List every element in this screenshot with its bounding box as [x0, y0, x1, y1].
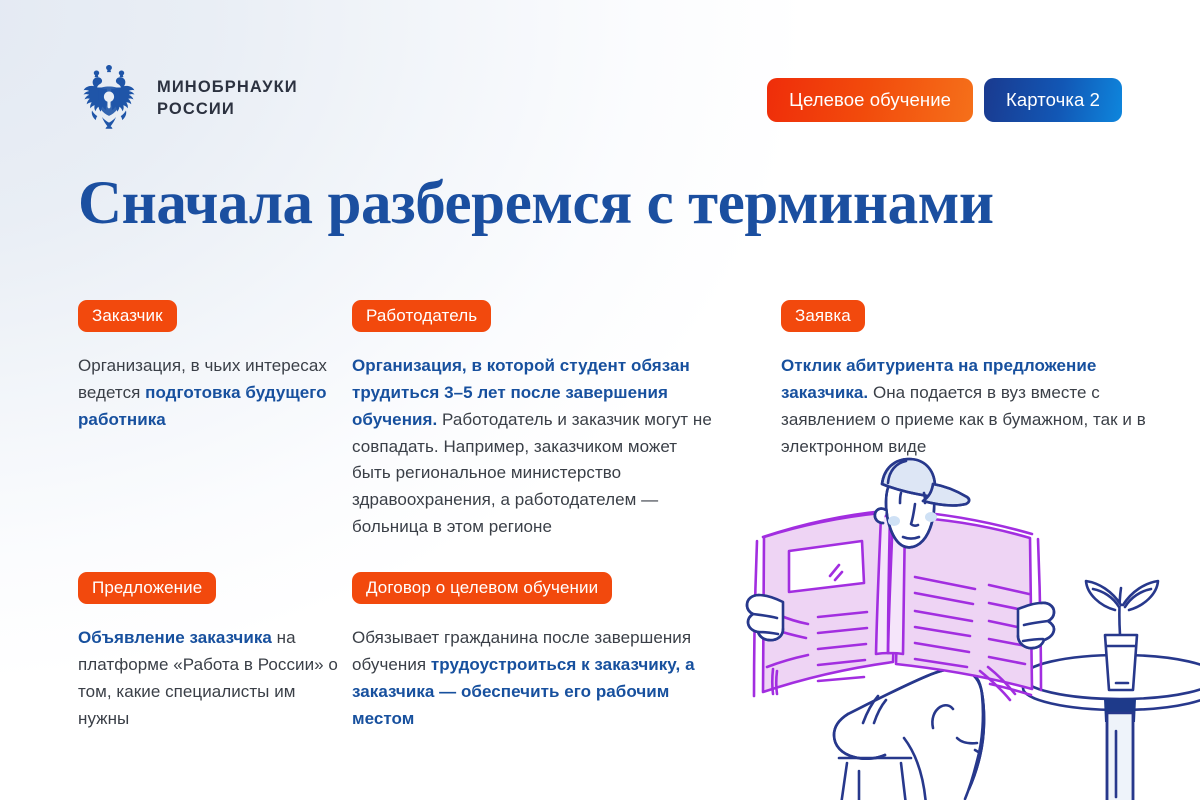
term-block-rabotodatel: Работодатель Организация, в которой студ… — [352, 300, 718, 541]
card-number-badge[interactable]: Карточка 2 — [984, 78, 1122, 122]
term-description: Организация, в которой студент обязан тр… — [352, 353, 718, 541]
header-badges: Целевое обучение Карточка 2 — [767, 78, 1122, 122]
term-block-zayavka: Заявка Отклик абитуриента на предложение… — [781, 300, 1149, 460]
topic-badge[interactable]: Целевое обучение — [767, 78, 973, 122]
term-tag: Заявка — [781, 300, 865, 332]
man-body — [834, 669, 984, 800]
term-tag: Работодатель — [352, 300, 491, 332]
term-tag: Предложение — [78, 572, 216, 604]
stool — [839, 758, 911, 800]
term-description: Организация, в чьих интересах ведется по… — [78, 353, 340, 434]
poster-canvas: МИНОБРНАУКИ РОССИИ Целевое обучение Карт… — [0, 0, 1200, 800]
term-block-predlozhenie: Предложение Объявление заказчика на плат… — [78, 572, 340, 732]
term-description: Отклик абитуриента на предложение заказч… — [781, 353, 1149, 460]
term-description: Объявление заказчика на платформе «Работ… — [78, 625, 340, 732]
term-description: Обязывает гражданина после завершения об… — [352, 625, 718, 732]
term-block-dogovor: Договор о целевом обучении Обязывает гра… — [352, 572, 718, 732]
page-title: Сначала разберемся с терминами — [78, 172, 1138, 236]
highlighted-text: Объявление заказчика — [78, 628, 272, 647]
ministry-brand: МИНОБРНАУКИ РОССИИ — [78, 62, 298, 134]
ministry-name-label: МИНОБРНАУКИ РОССИИ — [157, 76, 298, 121]
man-reading-newspaper-illustration — [735, 455, 1200, 800]
term-tag: Договор о целевом обучении — [352, 572, 612, 604]
term-tag: Заказчик — [78, 300, 177, 332]
russian-coat-of-arms-double-headed-eagle-icon — [78, 62, 140, 134]
term-block-zakazchik: Заказчик Организация, в чьих интересах в… — [78, 300, 340, 434]
